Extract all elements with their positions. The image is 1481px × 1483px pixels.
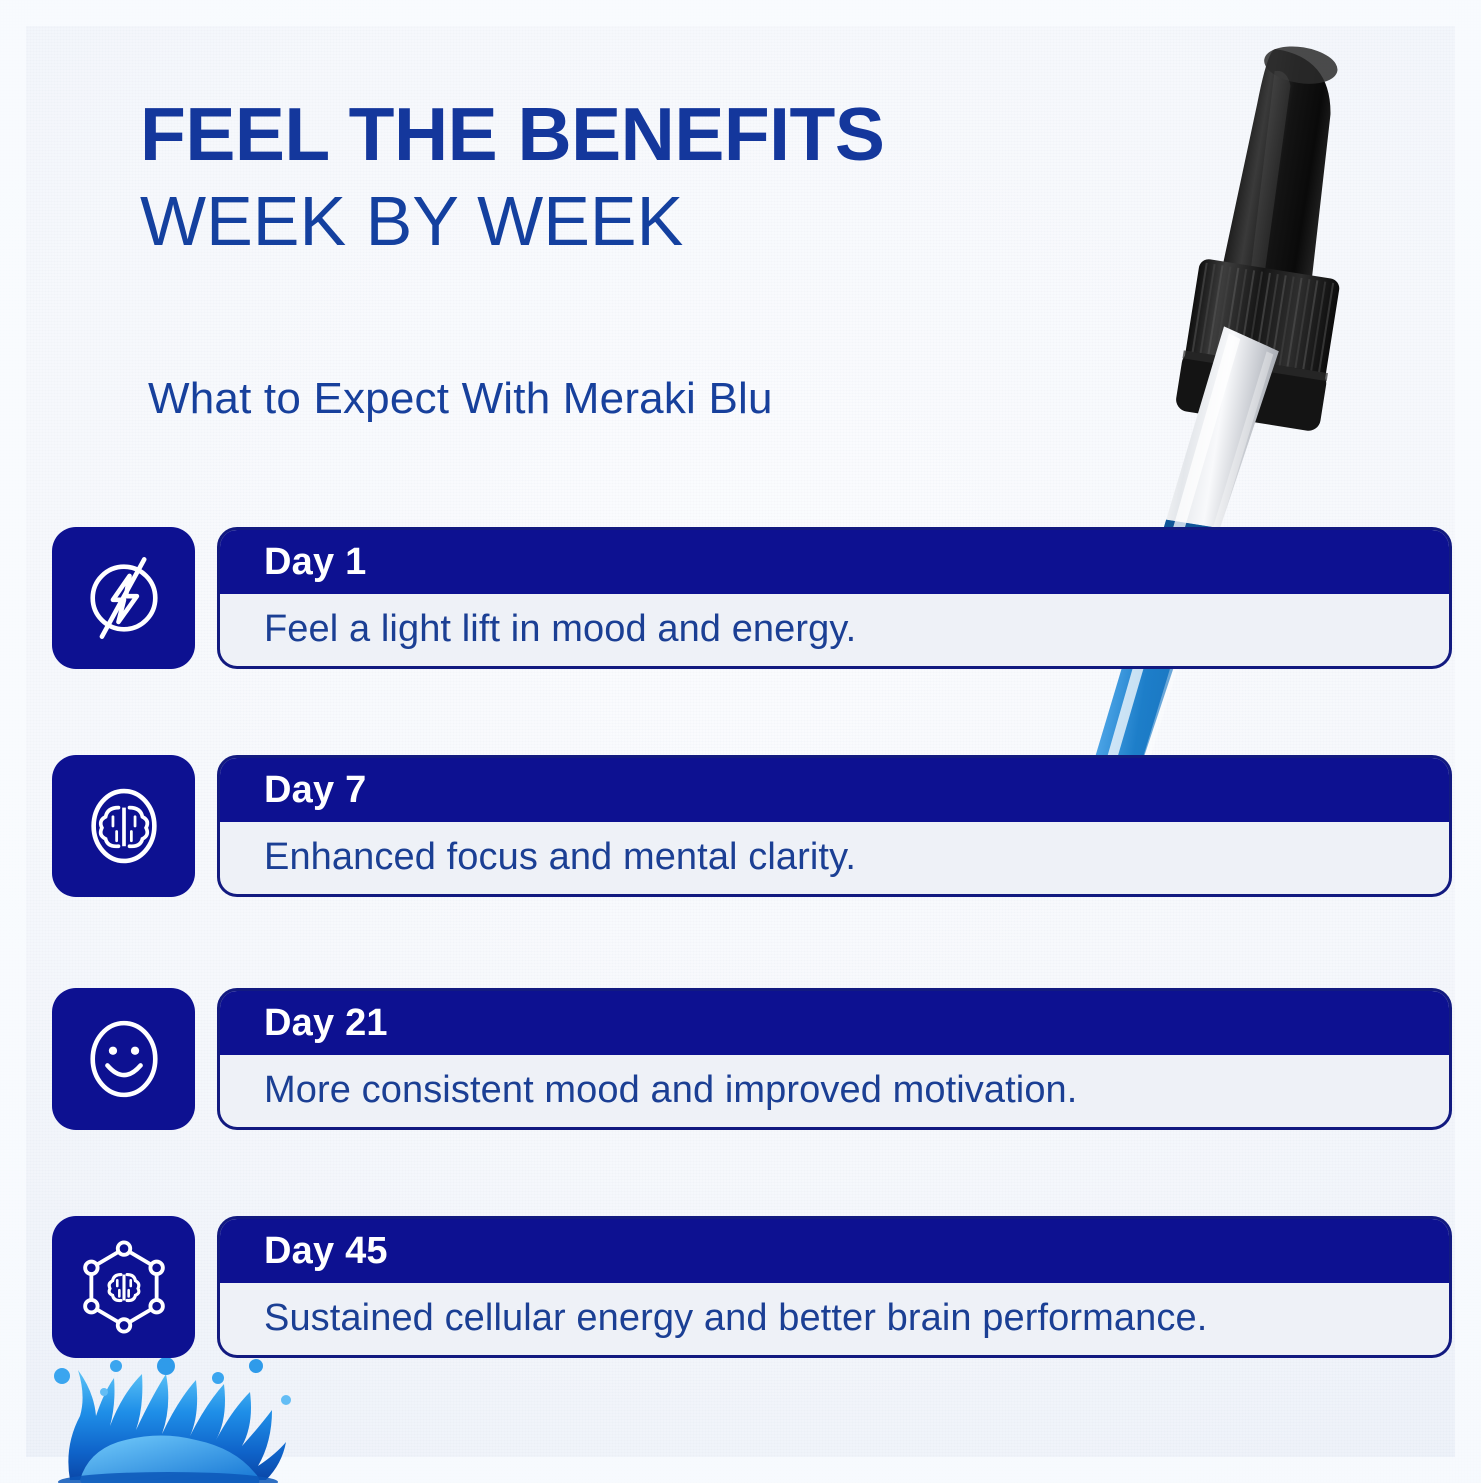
day-description: Enhanced focus and mental clarity. (264, 838, 856, 878)
day-label: Day 45 (264, 1232, 388, 1270)
day-label: Day 1 (264, 543, 366, 581)
lightning-bolt-circle-icon (52, 527, 195, 669)
day-description: More consistent mood and improved motiva… (264, 1071, 1077, 1111)
page-subtitle: WEEK BY WEEK (140, 183, 884, 260)
brain-hexagon-network-icon (52, 1216, 195, 1358)
timeline-card-header: Day 1 (220, 530, 1449, 594)
list-item[interactable]: Day 7 Enhanced focus and mental clarity. (52, 755, 1452, 897)
tagline: What to Expect With Meraki Blu (148, 374, 773, 424)
day-description: Sustained cellular energy and better bra… (264, 1299, 1207, 1339)
timeline-card: Day 7 Enhanced focus and mental clarity. (217, 755, 1452, 897)
infographic-poster: FEEL THE BENEFITS WEEK BY WEEK What to E… (0, 0, 1481, 1483)
smiley-face-icon (52, 988, 195, 1130)
day-label: Day 21 (264, 1004, 388, 1042)
timeline-card-body: Sustained cellular energy and better bra… (220, 1283, 1449, 1355)
day-label: Day 7 (264, 771, 366, 809)
day-description: Feel a light lift in mood and energy. (264, 610, 856, 650)
timeline-card-header: Day 7 (220, 758, 1449, 822)
timeline-card: Day 21 More consistent mood and improved… (217, 988, 1452, 1130)
timeline-card-header: Day 21 (220, 991, 1449, 1055)
timeline-card: Day 45 Sustained cellular energy and bet… (217, 1216, 1452, 1358)
page-title: FEEL THE BENEFITS (140, 96, 884, 173)
timeline-card-body: Enhanced focus and mental clarity. (220, 822, 1449, 894)
header-block: FEEL THE BENEFITS WEEK BY WEEK (140, 96, 884, 260)
list-item[interactable]: Day 21 More consistent mood and improved… (52, 988, 1452, 1130)
timeline-card-header: Day 45 (220, 1219, 1449, 1283)
brain-circle-icon (52, 755, 195, 897)
list-item[interactable]: Day 45 Sustained cellular energy and bet… (52, 1216, 1452, 1358)
timeline-card-body: Feel a light lift in mood and energy. (220, 594, 1449, 666)
list-item[interactable]: Day 1 Feel a light lift in mood and ener… (52, 527, 1452, 669)
timeline-card-body: More consistent mood and improved motiva… (220, 1055, 1449, 1127)
timeline-card: Day 1 Feel a light lift in mood and ener… (217, 527, 1452, 669)
